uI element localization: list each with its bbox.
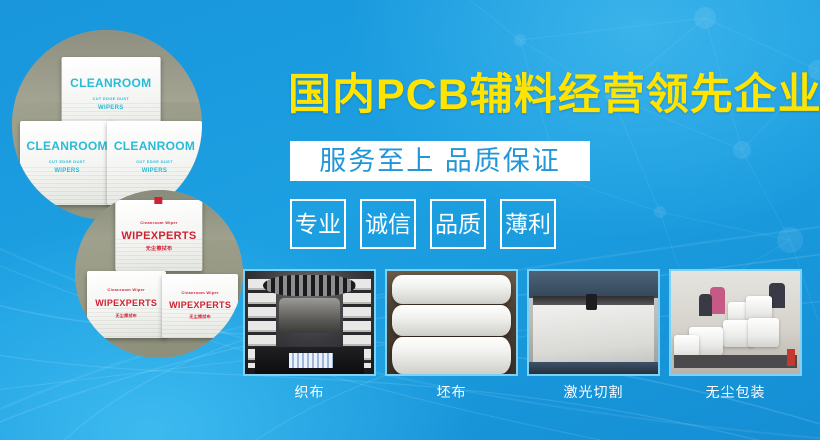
badge-zhuanye: 专业 [290, 199, 346, 249]
promotional-banner: CLEANROOM CUT EDGE DUST WIPERS CLEANROOM… [0, 0, 820, 440]
process-thumbnail-strip: 织布 坯布 [243, 269, 802, 399]
knitting-machine-scene [245, 271, 374, 374]
bale-ridges [87, 308, 166, 338]
thumbnail-weaving [243, 269, 376, 376]
caption-greige-fabric: 坯布 [385, 385, 518, 399]
process-item-greige-fabric: 坯布 [385, 269, 518, 399]
thumbnail-greige-fabric [385, 269, 518, 376]
badge-pinzhi: 品质 [430, 199, 486, 249]
wipexperts-photo-scene: Cleanroom Wiper WIPEXPERTS 无尘擦拭布 Cleanro… [75, 190, 243, 358]
tagline-box: 服务至上 品质保证 [290, 141, 590, 181]
value-badges: 专业 诚信 品质 薄利 [290, 199, 556, 249]
wipexperts-circle: Cleanroom Wiper WIPEXPERTS 无尘擦拭布 Cleanro… [75, 190, 243, 358]
tagline-text: 服务至上 品质保证 [319, 148, 561, 175]
wipexperts-bale-left: Cleanroom Wiper WIPEXPERTS 无尘擦拭布 [87, 271, 166, 338]
bale-ridges [162, 309, 238, 338]
caption-weaving: 织布 [243, 385, 376, 399]
process-item-laser-cutting: 激光切割 [527, 269, 660, 399]
bale-ridges [115, 239, 202, 271]
cleanroom-packing-scene [671, 271, 800, 374]
process-item-cleanroom-packing: 无尘包装 [669, 269, 802, 399]
badge-chengxin: 诚信 [360, 199, 416, 249]
thumbnail-cleanroom-packing [669, 269, 802, 376]
fabric-rolls-scene [387, 271, 516, 374]
thumbnail-laser-cutting [527, 269, 660, 376]
laser-cutting-scene [529, 271, 658, 374]
wipexperts-bale-top: Cleanroom Wiper WIPEXPERTS 无尘擦拭布 [115, 200, 202, 271]
badge-boli: 薄利 [500, 199, 556, 249]
page-title: 国内PCB辅料经营领先企业 [288, 74, 820, 117]
wipexperts-bale-right: Cleanroom Wiper WIPEXPERTS 无尘擦拭布 [162, 274, 238, 338]
caption-laser-cutting: 激光切割 [527, 385, 660, 399]
caption-cleanroom-packing: 无尘包装 [669, 385, 802, 399]
process-item-weaving: 织布 [243, 269, 376, 399]
